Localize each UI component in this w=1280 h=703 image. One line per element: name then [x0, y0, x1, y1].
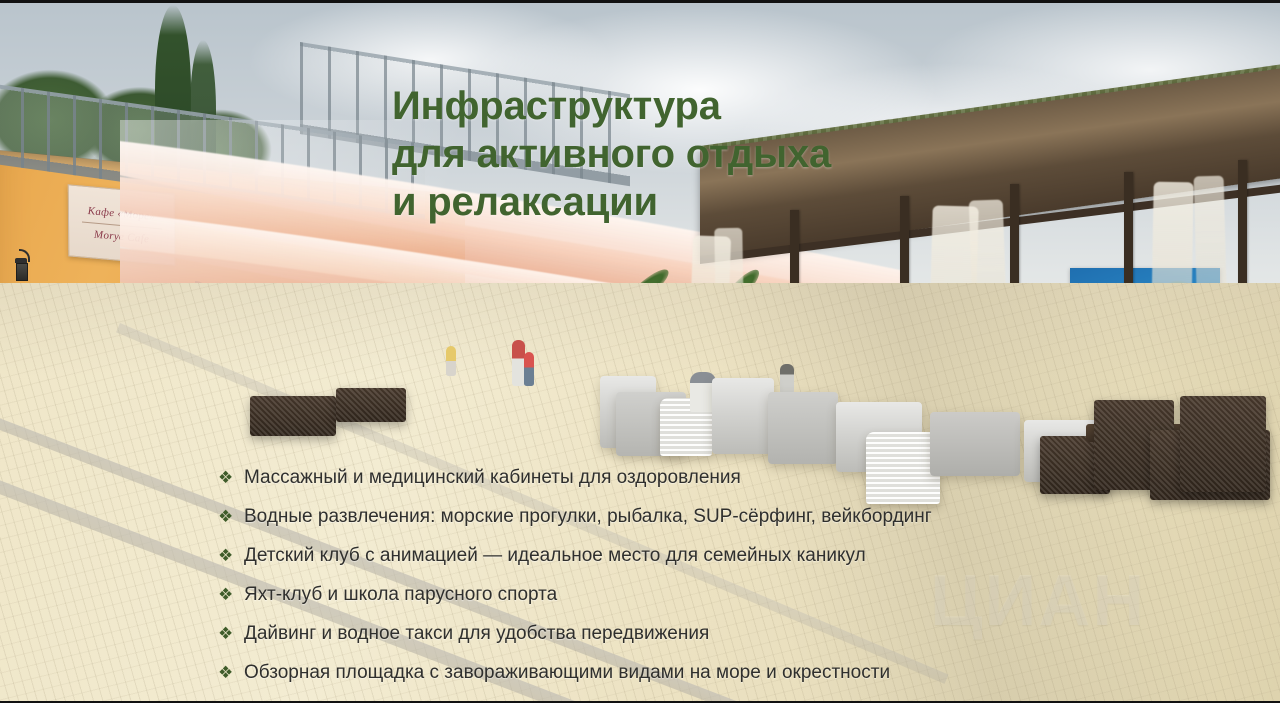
list-item: ❖ Дайвинг и водное такси для удобства пе… — [218, 624, 1218, 663]
lounge-seat — [930, 412, 1020, 476]
list-item-label: Дайвинг и водное такси для удобства пере… — [244, 624, 709, 643]
page-title: Инфраструктура для активного отдыха и ре… — [392, 82, 952, 226]
list-item: ❖ Массажный и медицинский кабинеты для о… — [218, 468, 1218, 507]
diamond-bullet-icon: ❖ — [218, 508, 244, 525]
lounge-seat — [768, 392, 838, 464]
frame-edge-top — [0, 0, 1280, 3]
diamond-bullet-icon: ❖ — [218, 625, 244, 642]
lounge-seat — [712, 378, 774, 454]
list-item: ❖ Детский клуб с анимацией — идеальное м… — [218, 546, 1218, 585]
list-item-label: Яхт-клуб и школа парусного спорта — [244, 585, 557, 604]
outdoor-bench — [336, 388, 406, 422]
list-item: ❖ Яхт-клуб и школа парусного спорта — [218, 585, 1218, 624]
title-line-3: и релаксации — [392, 178, 952, 226]
list-item-label: Обзорная площадка с завораживающими вида… — [244, 663, 890, 682]
seated-guest-silhouette — [780, 364, 794, 394]
diamond-bullet-icon: ❖ — [218, 586, 244, 603]
list-item-label: Водные развлечения: морские прогулки, ры… — [244, 507, 932, 526]
title-line-2: для активного отдыха — [392, 130, 952, 178]
diamond-bullet-icon: ❖ — [218, 547, 244, 564]
list-item: ❖ Водные развлечения: морские прогулки, … — [218, 507, 1218, 546]
marketing-slide: Кафе «Море» Morye Cafe — [0, 0, 1280, 703]
list-item-label: Детский клуб с анимацией — идеальное мес… — [244, 546, 866, 565]
pedestrian-silhouette — [446, 346, 456, 376]
feature-list: ❖ Массажный и медицинский кабинеты для о… — [218, 468, 1218, 702]
list-item: ❖ Обзорная площадка с завораживающими ви… — [218, 663, 1218, 702]
wall-lantern-icon — [14, 258, 28, 284]
list-item-label: Массажный и медицинский кабинеты для озд… — [244, 468, 741, 487]
outdoor-bench — [250, 396, 336, 436]
diamond-bullet-icon: ❖ — [218, 664, 244, 681]
pedestrian-silhouette — [524, 352, 534, 386]
diamond-bullet-icon: ❖ — [218, 469, 244, 486]
title-line-1: Инфраструктура — [392, 82, 952, 130]
